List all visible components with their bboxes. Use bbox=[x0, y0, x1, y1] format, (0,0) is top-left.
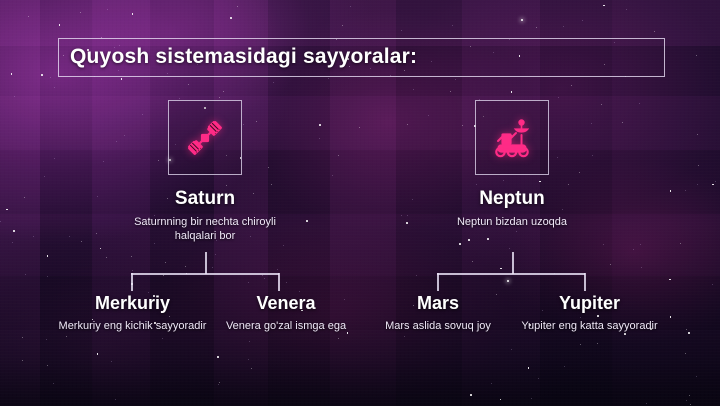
node-saturn: Saturn Saturnning bir nechta chiroyli ha… bbox=[125, 188, 285, 243]
node-mars: Mars Mars aslida sovuq joy bbox=[368, 292, 508, 333]
node-yupiter-title: Yupiter bbox=[512, 292, 667, 314]
node-saturn-desc: Saturnning bir nechta chiroyli halqalari… bbox=[125, 215, 285, 243]
satellite-icon bbox=[183, 116, 227, 160]
node-neptun-desc: Neptun bizdan uzoqda bbox=[432, 215, 592, 229]
node-mars-title: Mars bbox=[368, 292, 508, 314]
node-neptun: Neptun Neptun bizdan uzoqda bbox=[432, 188, 592, 229]
connector-saturn-bar bbox=[131, 273, 279, 275]
connector-neptun-bar bbox=[437, 273, 585, 275]
connector-saturn-stem bbox=[205, 252, 207, 274]
connector-yupiter-drop bbox=[584, 273, 586, 291]
node-saturn-title: Saturn bbox=[125, 188, 285, 210]
node-merkuriy-desc: Merkuriy eng kichik sayyoradir bbox=[55, 319, 210, 333]
icon-card-saturn bbox=[168, 100, 242, 175]
slide-canvas: Quyosh sistemasidagi sayyoralar: bbox=[0, 0, 720, 406]
node-neptun-title: Neptun bbox=[432, 188, 592, 210]
node-venera-desc: Venera go'zal ismga ega bbox=[212, 319, 360, 333]
icon-card-neptun bbox=[475, 100, 549, 175]
connector-mars-drop bbox=[437, 273, 439, 291]
node-venera: Venera Venera go'zal ismga ega bbox=[212, 292, 360, 333]
node-yupiter-desc: Yupiter eng katta sayyoradir bbox=[512, 319, 667, 333]
node-merkuriy: Merkuriy Merkuriy eng kichik sayyoradir bbox=[55, 292, 210, 333]
connector-venera-drop bbox=[278, 273, 280, 291]
node-venera-title: Venera bbox=[212, 292, 360, 314]
node-merkuriy-title: Merkuriy bbox=[55, 292, 210, 314]
connector-merkuriy-drop bbox=[131, 273, 133, 291]
connector-neptun-stem bbox=[512, 252, 514, 274]
mars-rover-icon bbox=[489, 116, 535, 160]
page-title: Quyosh sistemasidagi sayyoralar: bbox=[70, 45, 417, 69]
node-yupiter: Yupiter Yupiter eng katta sayyoradir bbox=[512, 292, 667, 333]
node-mars-desc: Mars aslida sovuq joy bbox=[368, 319, 508, 333]
